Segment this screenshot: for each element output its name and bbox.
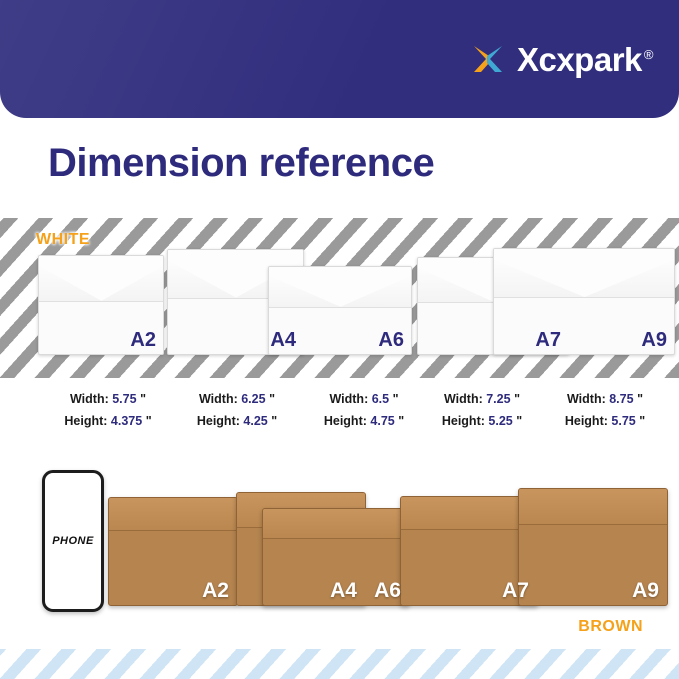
width-row: Width: 7.25 ": [424, 388, 540, 410]
brown-section-label: BROWN: [578, 618, 643, 636]
unit: ": [516, 414, 522, 428]
page-header: Xcxpark®: [0, 0, 679, 118]
dimension-col-a4: Width: 6.25 " Height: 4.25 ": [178, 388, 296, 432]
height-value: 4.25: [243, 414, 267, 428]
height-label: Height:: [197, 414, 240, 428]
dimension-col-a9: Width: 8.75 " Height: 5.75 ": [546, 388, 664, 432]
width-value: 8.75: [609, 392, 633, 406]
height-label: Height:: [324, 414, 367, 428]
width-value: 6.25: [241, 392, 265, 406]
white-envelope-a2: A2: [38, 255, 164, 355]
unit: ": [146, 414, 152, 428]
brown-envelope-label: A7: [502, 579, 529, 603]
unit: ": [269, 392, 275, 406]
height-value: 4.375: [111, 414, 142, 428]
width-value: 7.25: [486, 392, 510, 406]
x-mark-logo: [469, 40, 507, 78]
height-value: 5.75: [611, 414, 635, 428]
unit: ": [393, 392, 399, 406]
height-row: Height: 4.25 ": [178, 410, 296, 432]
height-value: 4.75: [370, 414, 394, 428]
width-value: 5.75: [112, 392, 136, 406]
height-row: Height: 4.375 ": [48, 410, 168, 432]
white-envelope-label: A9: [641, 329, 667, 352]
unit: ": [398, 414, 404, 428]
height-row: Height: 5.75 ": [546, 410, 664, 432]
white-envelope-a9: A9: [493, 248, 675, 355]
brown-envelope-label: A9: [632, 579, 659, 603]
width-label: Width:: [329, 392, 368, 406]
width-row: Width: 6.5 ": [308, 388, 420, 410]
white-section-label: WHITE: [36, 231, 90, 249]
brown-envelope-label: A6: [374, 579, 401, 603]
white-envelope-label: A7: [535, 329, 561, 352]
width-row: Width: 6.25 ": [178, 388, 296, 410]
registered-mark: ®: [644, 47, 653, 62]
page-title: Dimension reference: [48, 141, 434, 186]
unit: ": [140, 392, 146, 406]
brand-lockup: Xcxpark®: [469, 40, 653, 78]
width-label: Width:: [70, 392, 109, 406]
height-label: Height:: [64, 414, 107, 428]
unit: ": [514, 392, 520, 406]
dimension-col-a7: Width: 7.25 " Height: 5.25 ": [424, 388, 540, 432]
brown-envelope-label: A2: [202, 579, 229, 603]
envelope-flap: [109, 498, 237, 531]
envelope-flap: [263, 509, 409, 539]
dimension-table: Width: 5.75 " Height: 4.375 " Width: 6.2…: [0, 388, 679, 442]
bottom-stripe-band: [0, 649, 679, 679]
dimension-col-a6: Width: 6.5 " Height: 4.75 ": [308, 388, 420, 432]
height-label: Height:: [442, 414, 485, 428]
width-value: 6.5: [372, 392, 389, 406]
width-row: Width: 5.75 ": [48, 388, 168, 410]
height-value: 5.25: [488, 414, 512, 428]
brown-envelope-a2: A2: [108, 497, 238, 606]
width-label: Width:: [567, 392, 606, 406]
brand-name-text: Xcxpark: [517, 41, 642, 78]
white-envelope-label: A2: [130, 329, 156, 352]
brand-name: Xcxpark®: [517, 43, 653, 76]
envelope-flap: [269, 267, 411, 308]
envelope-flap: [494, 249, 674, 298]
white-envelope-label: A6: [378, 329, 404, 352]
unit: ": [639, 414, 645, 428]
width-label: Width:: [199, 392, 238, 406]
unit: ": [271, 414, 277, 428]
white-envelope-label: A4: [270, 329, 296, 352]
unit: ": [637, 392, 643, 406]
envelope-flap: [401, 497, 537, 530]
phone-label: PHONE: [52, 535, 94, 547]
height-row: Height: 5.25 ": [424, 410, 540, 432]
brown-envelope-label: A4: [330, 579, 357, 603]
envelope-flap: [39, 256, 163, 302]
dimension-col-a2: Width: 5.75 " Height: 4.375 ": [48, 388, 168, 432]
width-row: Width: 8.75 ": [546, 388, 664, 410]
envelope-flap: [519, 489, 667, 525]
width-label: Width:: [444, 392, 483, 406]
height-label: Height:: [565, 414, 608, 428]
brown-envelope-a9: A9: [518, 488, 668, 606]
phone-reference: PHONE: [42, 470, 104, 612]
height-row: Height: 4.75 ": [308, 410, 420, 432]
